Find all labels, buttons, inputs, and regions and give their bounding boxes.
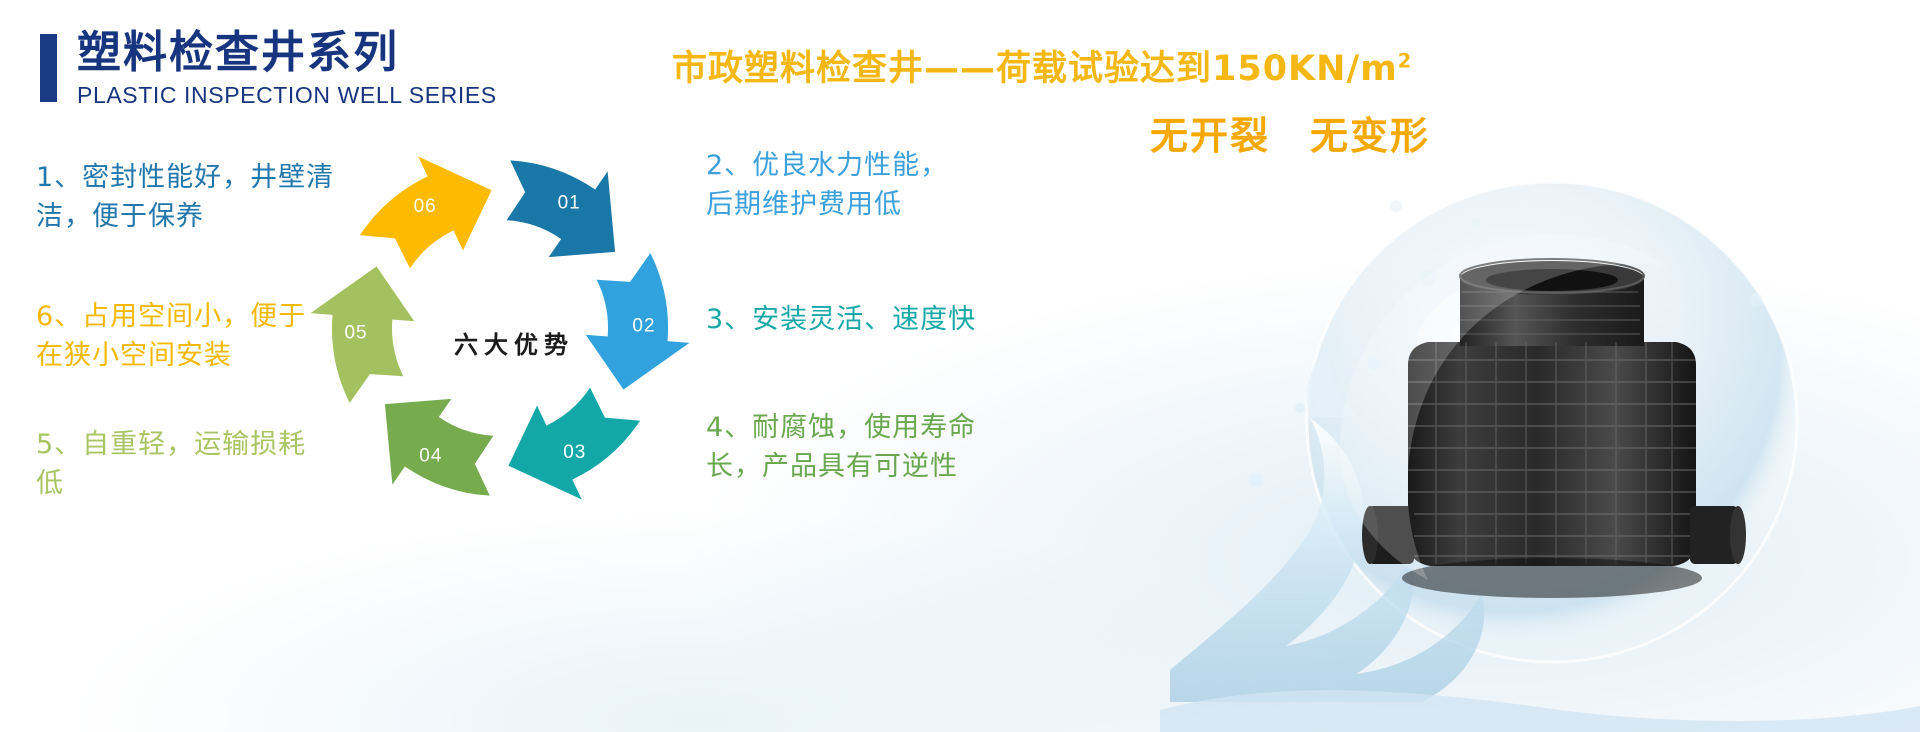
promo-heading-group: 市政塑料检查井——荷载试验达到150KN/m2 无开裂无变形	[672, 40, 1882, 160]
promo-subheadline-b: 无变形	[1310, 114, 1430, 158]
banner-canvas: 塑料检查井系列 PLASTIC INSPECTION WELL SERIES 市…	[0, 0, 1920, 732]
title-chinese: 塑料检查井系列	[77, 30, 497, 76]
cycle-center-text: 六大优势	[454, 325, 574, 360]
advantage-text-03: 3、安装灵活、速度快	[706, 300, 1006, 339]
advantage-text-02: 2、优良水力性能， 后期维护费用低	[706, 146, 1006, 224]
advantage-text-04: 4、耐腐蚀，使用寿命 长，产品具有可逆性	[706, 408, 1006, 486]
advantage-text-06: 6、占用空间小，便于 在狭小空间安装	[36, 297, 356, 375]
six-advantages-cycle-diagram: 010203040506 六大优势	[320, 148, 680, 508]
advantage-text-05: 5、自重轻，运输损耗 低	[36, 425, 356, 503]
promo-subheadline-a: 无开裂	[1150, 114, 1270, 158]
promo-headline-superscript: 2	[1398, 49, 1412, 72]
title-english: PLASTIC INSPECTION WELL SERIES	[77, 82, 497, 109]
cycle-center-label: 六大优势	[320, 148, 680, 508]
promo-headline-text: 市政塑料检查井——荷载试验达到150KN/m	[672, 49, 1398, 89]
advantage-text-01: 1、密封性能好，井壁清 洁，便于保养	[36, 158, 356, 236]
product-photo	[1160, 150, 1920, 732]
page-title: 塑料检查井系列 PLASTIC INSPECTION WELL SERIES	[40, 30, 497, 109]
promo-headline: 市政塑料检查井——荷载试验达到150KN/m2	[672, 40, 1882, 91]
title-accent-bar	[40, 34, 57, 102]
